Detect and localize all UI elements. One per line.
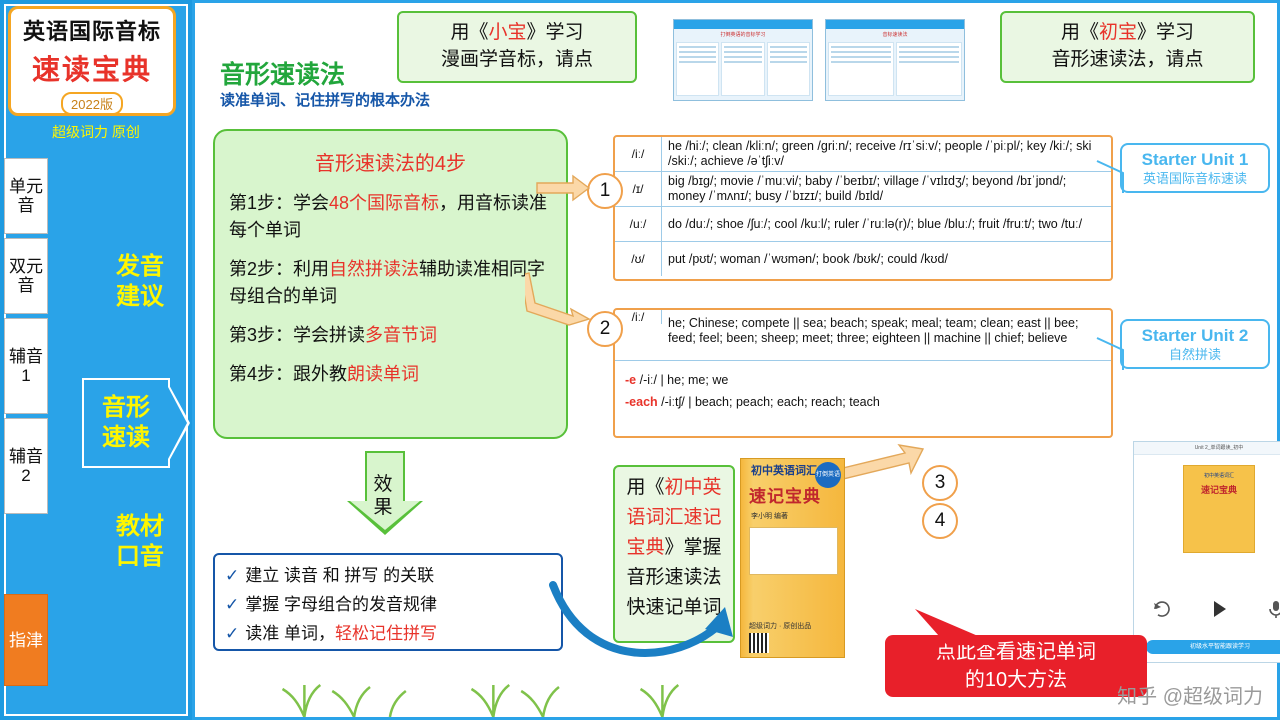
arrow-to-book-icon [547,563,747,663]
table-row: /ɪ/ big /bɪg/; movie /ˈmuːvi/; baby /ˈbe… [615,172,1111,207]
step-number-1: 1 [587,173,623,209]
book-cover-feature-list [749,527,838,575]
step-1-pre: 第1步：学会 [229,193,329,213]
label-starter-unit-1[interactable]: Starter Unit 1 英语国际音标速读 [1120,143,1270,193]
table-cell-symbol: /iː/ [615,137,662,171]
sidebar-item-label: 单元音 [5,177,47,215]
logo-line1: 英语国际音标 [11,14,173,46]
sidebar-label-pronunciation: 发音 建议 [92,252,188,312]
play-icon[interactable] [1206,596,1232,622]
label-unit2-title: Starter Unit 2 [1130,325,1260,346]
phone-mockup[interactable]: Unit 2_单词跟读_初中 初中英语词汇 速记宝典 初级水平智能跟读学习 [1133,441,1280,663]
table2-rule-1-ipa: /-iː/ [640,373,657,387]
callout-chubao-highlight: 初宝 [1099,22,1137,43]
callout-book-hl3: 宝典 [626,537,664,558]
arrow-to-step-1-icon [535,173,591,203]
table-row: /iː/ he /hiː/; clean /kliːn/; green /gri… [615,137,1111,172]
outcome-1-text: 建立 读音 和 拼写 的关联 [245,566,434,585]
book-cover-bottom: 超级词力 · 原创出品 [749,621,811,631]
table-cell-symbol: /uː/ [615,207,662,241]
sidebar-label-yinxing-selected[interactable]: 音形 速读 [82,378,192,468]
thumbnail-xiaobao-title: 打倒英语的音标学习 [674,31,812,38]
step-number-2: 2 [587,311,623,347]
outcome-card: ✓建立 读音 和 拼写 的关联 ✓掌握 字母组合的发音规律 ✓读准 单词，轻松记… [213,553,563,651]
sidebar-item-label: 辅音2 [5,447,47,485]
sidebar-item-monophthong[interactable]: 单元音 [4,158,48,234]
outcome-2-text: 掌握 字母组合的发音规律 [245,595,437,614]
thumbnail-header-bar [826,20,964,29]
sidebar-label-pronunciation-l2: 建议 [92,282,188,312]
table-cell-words: he /hiː/; clean /kliːn/; green /griːn/; … [662,139,1111,169]
steps-card: 音形速读法的4步 第1步：学会48个国际音标，用音标读准每个单词 第2步：利用自… [213,129,568,439]
red-callout-pointer-icon [895,603,1005,648]
page-root: 英语国际音标 速读宝典 2022版 超级词力 原创 单元音 双元音 辅音1 辅音… [0,0,1280,720]
step-number-4: 4 [922,503,958,539]
thumbnail-chubao-title: 音标速读法 [826,31,964,38]
outcome-item-2: ✓掌握 字母组合的发音规律 [225,590,551,619]
table-cell-words: he; Chinese; compete || sea; beach; spea… [662,310,1111,360]
sidebar-item-guide[interactable]: 指津 [4,594,48,686]
phonetic-table-1: /iː/ he /hiː/; clean /kliːn/; green /gri… [613,135,1113,281]
phonetic-table-2: /iː/ he; Chinese; compete || sea; beach;… [613,308,1113,438]
outcome-3-highlight: 轻松记住拼写 [335,624,437,643]
logo-edition: 2022版 [61,92,123,115]
sidebar-label-textbook: 教材 口音 [92,512,188,572]
sidebar-item-consonant-1[interactable]: 辅音1 [4,318,48,414]
yinxing-badge-body: 音形 速读 [82,378,170,468]
outcome-item-1: ✓建立 读音 和 拼写 的关联 [225,561,551,590]
step-item-1: 第1步：学会48个国际音标，用音标读准每个单词 [229,190,552,244]
table2-rules: -e /-iː/ | he; me; we -each /-iːtʃ/ | be… [615,361,1111,421]
outcome-3-text: 读准 单词， [245,624,335,643]
table2-rule-1: -e /-iː/ | he; me; we [625,369,1101,391]
phone-card-line1: 初中英语词汇 [1188,472,1250,479]
step-3-highlight: 多音节词 [365,325,437,345]
thumbnail-chubao[interactable]: 音标速读法 [825,19,965,101]
phone-header: Unit 2_单词跟读_初中 [1134,442,1280,455]
table2-rule-2-words: | beach; peach; each; reach; teach [688,395,880,409]
step-4-pre: 第4步：跟外教 [229,364,347,384]
connector-unit2-icon [1095,328,1135,388]
label-unit1-sub: 英语国际音标速读 [1130,170,1260,187]
check-icon: ✓ [225,595,239,614]
effect-label: 效果 [366,473,400,519]
thumbnail-xiaobao[interactable]: 打倒英语的音标学习 [673,19,813,101]
sidebar-label-textbook-l2: 口音 [92,542,188,572]
callout-chubao-post: 》学习 [1137,22,1194,43]
step-3-pre: 第3步：学会拼读 [229,325,365,345]
callout-book-post: 》掌握 [665,537,722,558]
table-cell-symbol: /iː/ [615,310,662,324]
label-starter-unit-2[interactable]: Starter Unit 2 自然拼读 [1120,319,1270,369]
step-item-2: 第2步：利用自然拼读法辅助读准相同字母组合的单词 [229,256,552,310]
yinxing-arrow-inner-icon [168,387,187,459]
callout-xiaobao-pre: 用《 [450,22,488,43]
main-board: 音形速读法 读准单词、记住拼写的根本办法 音形速读法的4步 第1步：学会48个国… [192,0,1280,720]
table-cell-words: big /bɪg/; movie /ˈmuːvi/; baby /ˈbeɪbɪ/… [662,174,1111,204]
table2-line1: he; Chinese; compete || sea; beach; spea… [668,316,1105,331]
callout-book-hl1: 初中英 [665,477,722,498]
callout-chubao[interactable]: 用《初宝》学习 音形速读法，请点 [1000,11,1255,83]
phone-controls[interactable] [1134,596,1280,622]
phone-book-card: 初中英语词汇 速记宝典 [1183,465,1255,553]
check-icon: ✓ [225,566,239,585]
callout-book-line3: 宝典》掌握 [623,533,725,563]
replay-icon[interactable] [1151,598,1173,620]
callout-xiaobao-line1: 用《小宝》学习 [407,19,627,46]
table2-rule-1-key: -e [625,373,636,387]
page-title: 音形速读法 [220,55,345,91]
microphone-icon[interactable] [1265,598,1280,620]
red-callout-line2: 的10大方法 [885,666,1147,694]
table-cell-words: put /pʊt/; woman /ˈwʊmən/; book /bʊk/; c… [662,252,1111,267]
check-icon: ✓ [225,624,239,643]
logo-line2: 速读宝典 [11,48,173,88]
qr-code-icon [749,633,769,653]
table2-rule-1-words: | he; me; we [660,373,728,387]
table-row: /uː/ do /duː/; shoe /ʃuː/; cool /kuːl/; … [615,207,1111,242]
logo-box: 英语国际音标 速读宝典 2022版 [8,6,176,116]
table2-rule-2-ipa: /-iːtʃ/ [661,395,685,409]
book-cover[interactable]: 打倒英语 初中英语词汇 速记宝典 李小明 编著 超级词力 · 原创出品 [740,458,845,658]
step-1-highlight: 48个国际音标 [329,193,439,213]
callout-book-line1: 用《初中英 [623,473,725,503]
step-2-pre: 第2步：利用 [229,259,329,279]
sidebar-item-label: 辅音1 [5,347,47,385]
callout-chubao-pre: 用《 [1061,22,1099,43]
table2-line2: feed; feel; been; sheep; meet; three; ei… [668,331,1105,346]
label-unit1-title: Starter Unit 1 [1130,149,1260,170]
step-4-highlight: 朗读单词 [347,364,419,384]
step-item-4: 第4步：跟外教朗读单词 [229,361,552,388]
label-unit2-sub: 自然拼读 [1130,346,1260,363]
steps-title: 音形速读法的4步 [229,147,552,176]
phone-cta-button[interactable]: 初级水平智能跟读学习 [1146,640,1280,654]
callout-book-line2: 语词汇速记 [623,503,725,533]
sidebar-item-label: 双元音 [5,257,47,295]
step-item-3: 第3步：学会拼读多音节词 [229,322,552,349]
table-cell-words: do /duː/; shoe /ʃuː/; cool /kuːl/; ruler… [662,217,1111,232]
outcome-item-3: ✓读准 单词，轻松记住拼写 [225,619,551,648]
sidebar-label-textbook-l1: 教材 [92,512,188,542]
thumbnail-column [828,42,894,96]
logo-subtitle: 超级词力 原创 [0,122,192,142]
sidebar-item-consonant-2[interactable]: 辅音2 [4,418,48,514]
callout-book-pre: 用《 [626,477,664,498]
arrow-to-step-2-icon [525,271,591,329]
thumbnail-columns [674,40,812,98]
callout-xiaobao[interactable]: 用《小宝》学习 漫画学音标，请点 [397,11,637,83]
arrow-to-step-3-icon [835,443,925,483]
table-cell-symbol: /ʊ/ [615,242,662,276]
page-subtitle: 读准单词、记住拼写的根本办法 [220,89,430,110]
thumbnail-columns [826,40,964,98]
sidebar-label-pronunciation-l1: 发音 [92,252,188,282]
callout-chubao-line2: 音形速读法，请点 [1010,46,1245,73]
book-cover-author: 李小明 编著 [751,511,844,521]
thumbnail-column [767,42,810,96]
yinxing-label-l1: 音形 [102,393,150,423]
thumbnail-header-bar [674,20,812,29]
phone-card-line2: 速记宝典 [1188,483,1250,496]
step-number-3: 3 [922,465,958,501]
sidebar: 英语国际音标 速读宝典 2022版 超级词力 原创 单元音 双元音 辅音1 辅音… [0,0,192,720]
table-row: /ʊ/ put /pʊt/; woman /ˈwʊmən/; book /bʊk… [615,242,1111,276]
book-badge: 打倒英语 [815,462,841,488]
watermark: 知乎 @超级词力 [1117,680,1263,709]
table-row: /iː/ he; Chinese; compete || sea; beach;… [615,310,1111,361]
step-2-highlight: 自然拼读法 [329,259,419,279]
yinxing-label-l2: 速读 [102,423,150,453]
thumbnail-column [676,42,719,96]
sidebar-item-label: 指津 [9,631,43,650]
thumbnail-column [721,42,764,96]
callout-xiaobao-post: 》学习 [527,22,584,43]
sidebar-item-diphthong[interactable]: 双元音 [4,238,48,314]
thumbnail-column [896,42,962,96]
table2-rule-2-key: -each [625,395,658,409]
callout-xiaobao-line2: 漫画学音标，请点 [407,46,627,73]
table2-rule-2: -each /-iːtʃ/ | beach; peach; each; reac… [625,391,1101,413]
connector-unit1-icon [1095,153,1135,213]
callout-xiaobao-highlight: 小宝 [488,22,526,43]
callout-chubao-line1: 用《初宝》学习 [1010,19,1245,46]
